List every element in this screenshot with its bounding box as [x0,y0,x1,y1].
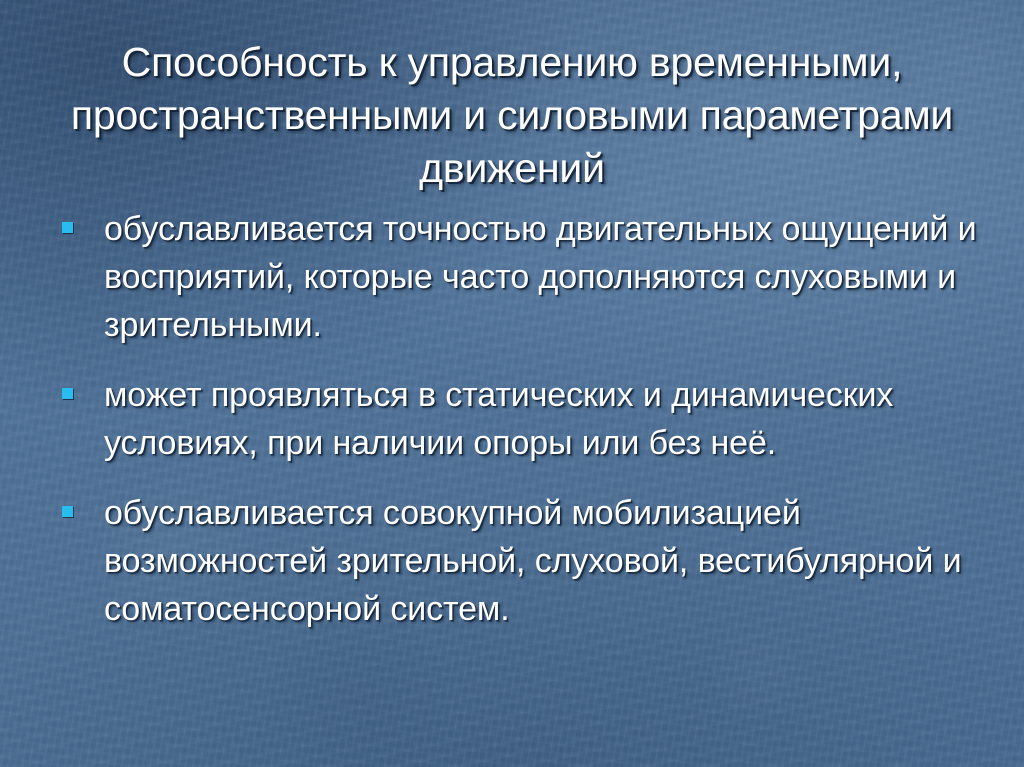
presentation-slide: Способность к управлению временными, про… [0,0,1024,767]
square-bullet-icon [62,506,73,517]
list-item: обуславливается точностью двигательных о… [56,205,986,349]
bullet-text: обуславливается совокупной мобилизацией … [104,494,962,628]
list-item: обуславливается совокупной мобилизацией … [56,489,986,633]
slide-title: Способность к управлению временными, про… [56,36,968,195]
bullet-text: может проявляться в статических и динами… [104,376,893,462]
bullet-list: обуславливается точностью двигательных о… [56,205,986,633]
bullet-text: обуславливается точностью двигательных о… [104,210,976,344]
square-bullet-icon [62,222,73,233]
square-bullet-icon [62,388,73,399]
list-item: может проявляться в статических и динами… [56,371,986,467]
